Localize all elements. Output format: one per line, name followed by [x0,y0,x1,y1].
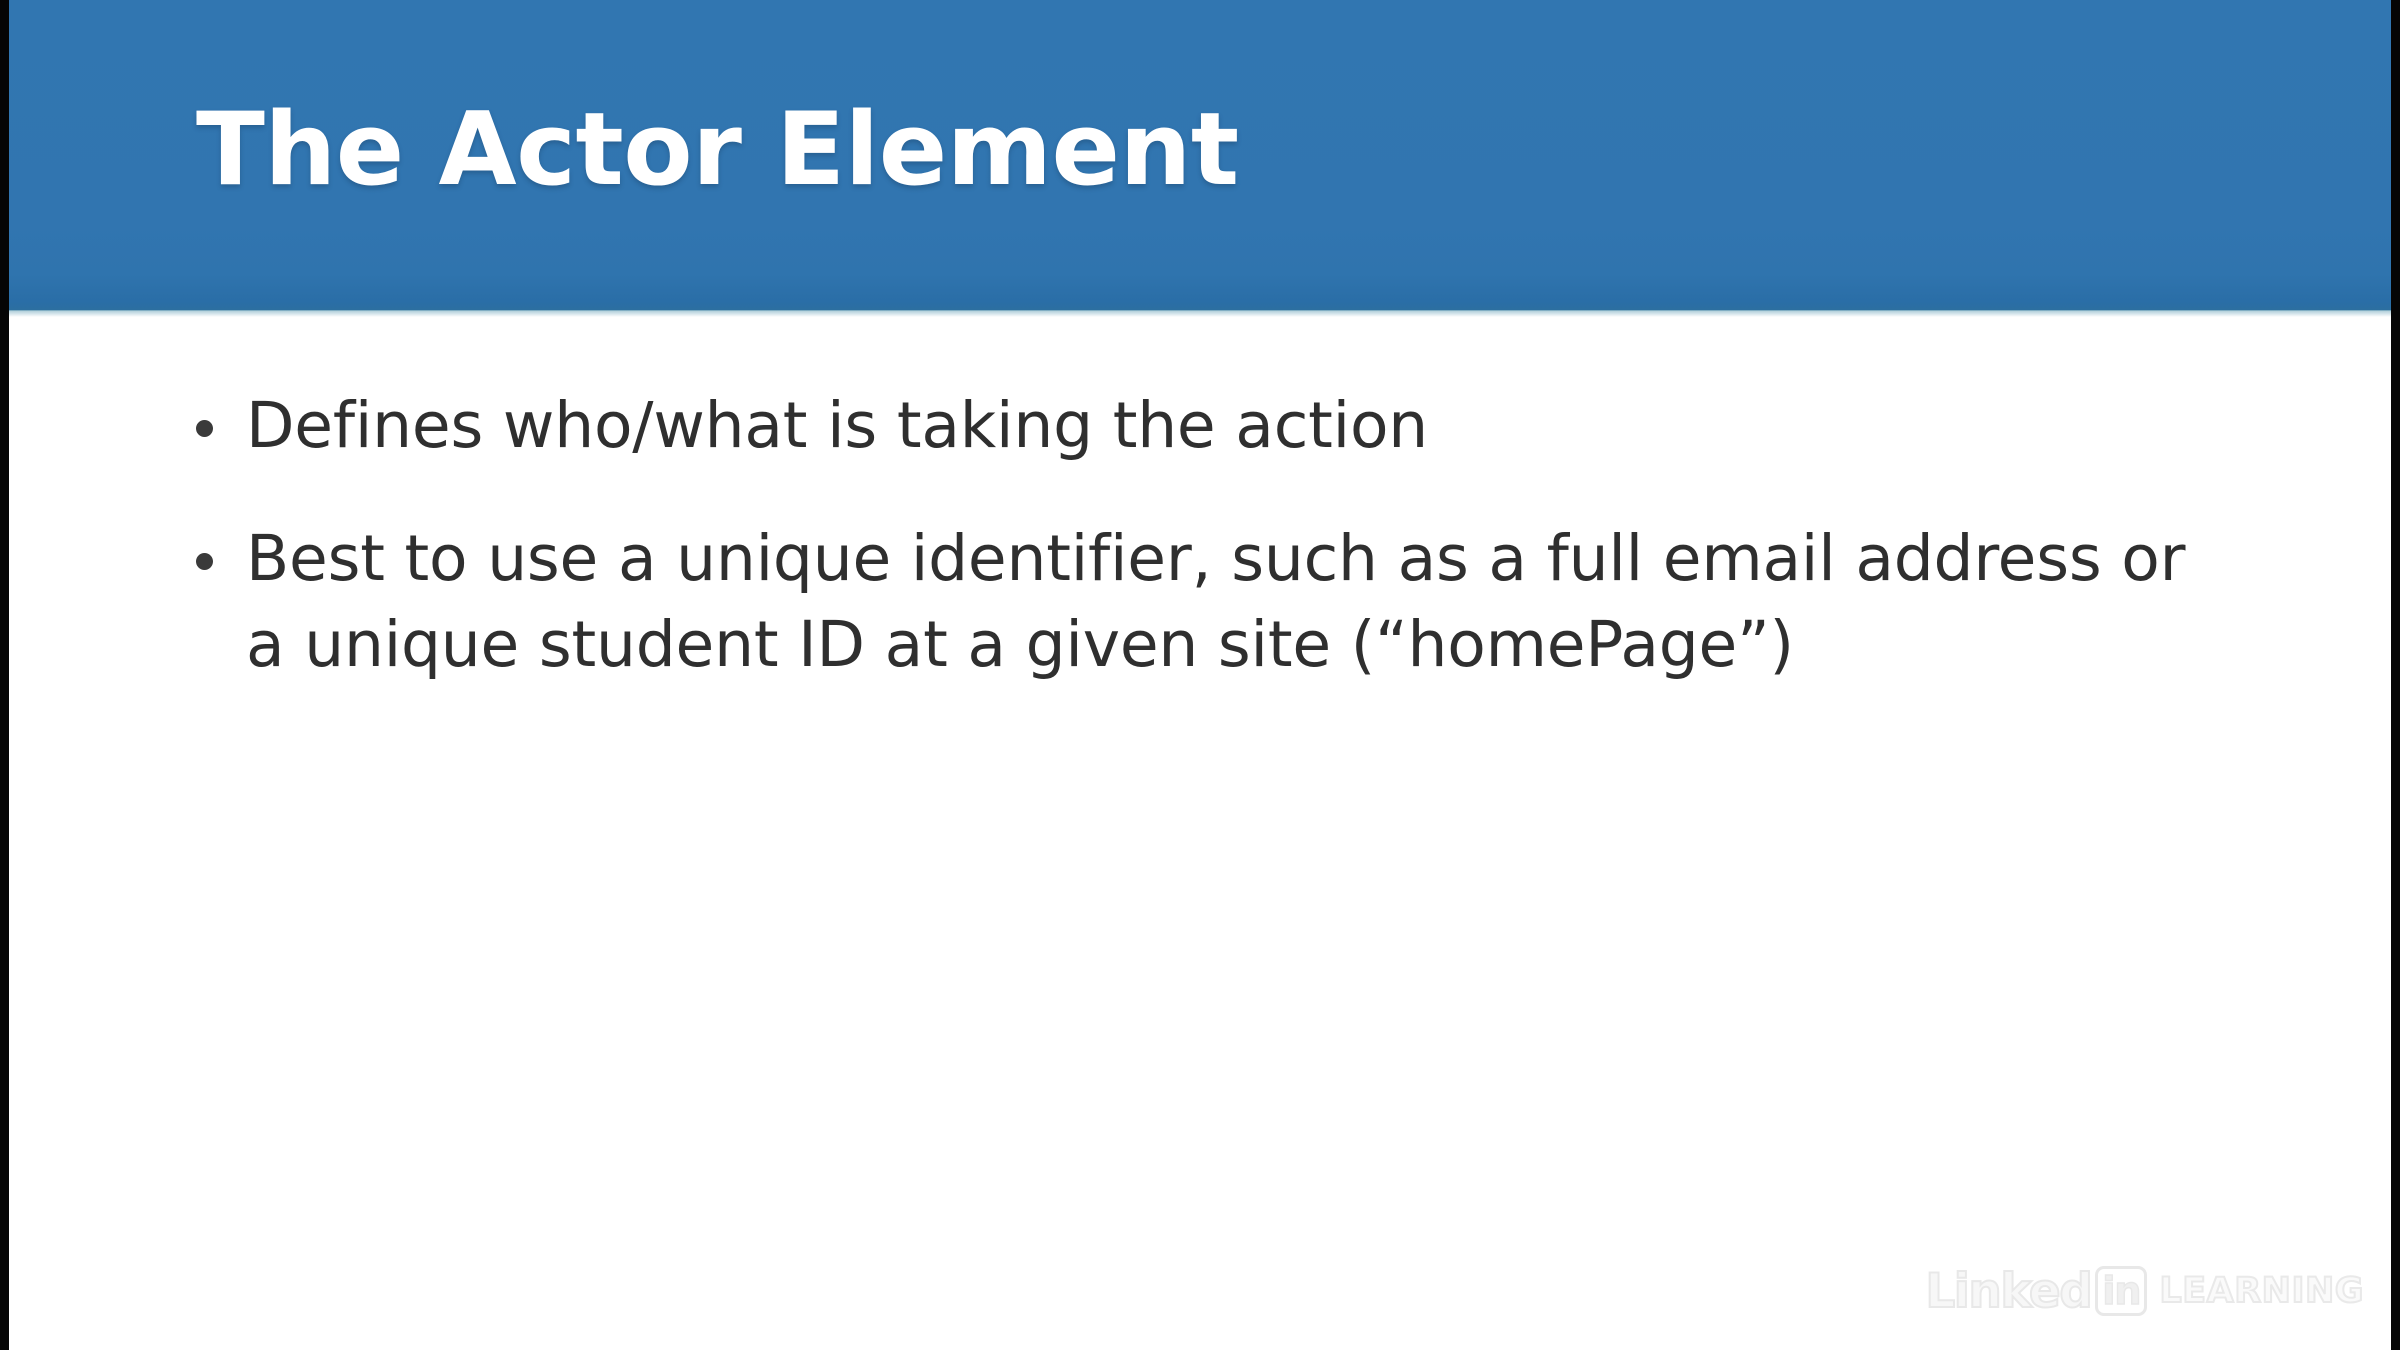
learning-wordmark: LEARNING [2159,1274,2364,1309]
right-edge-bar [2391,0,2400,1350]
linkedin-in-badge-icon: in [2095,1266,2147,1316]
bullet-list: Defines who/what is taking the action Be… [186,391,2316,681]
bullet-line: a unique student ID at a given site (“ho… [246,610,2316,681]
bullet-line: Best to use a unique identifier, such as… [246,524,2316,595]
bullet-dot-icon [196,420,213,437]
bullet-dot-icon [196,553,213,570]
slide-body: Defines who/what is taking the action Be… [0,311,2400,1350]
linkedin-wordmark: Linked [1925,1268,2091,1315]
linkedin-in-label: in [2102,1272,2140,1310]
bullet-item: Defines who/what is taking the action [186,391,2316,462]
bullet-text: Best to use a unique identifier, such as… [246,524,2316,681]
linkedin-learning-watermark: Linked in LEARNING [1925,1266,2364,1316]
bullet-line: Defines who/what is taking the action [246,391,2316,462]
slide-title: The Actor Element [196,96,1239,202]
bullet-item: Best to use a unique identifier, such as… [186,524,2316,681]
slide-canvas: The Actor Element Defines who/what is ta… [0,0,2400,1350]
left-edge-bar [0,0,9,1350]
bullet-text: Defines who/what is taking the action [246,391,2316,462]
title-banner: The Actor Element [0,0,2400,311]
